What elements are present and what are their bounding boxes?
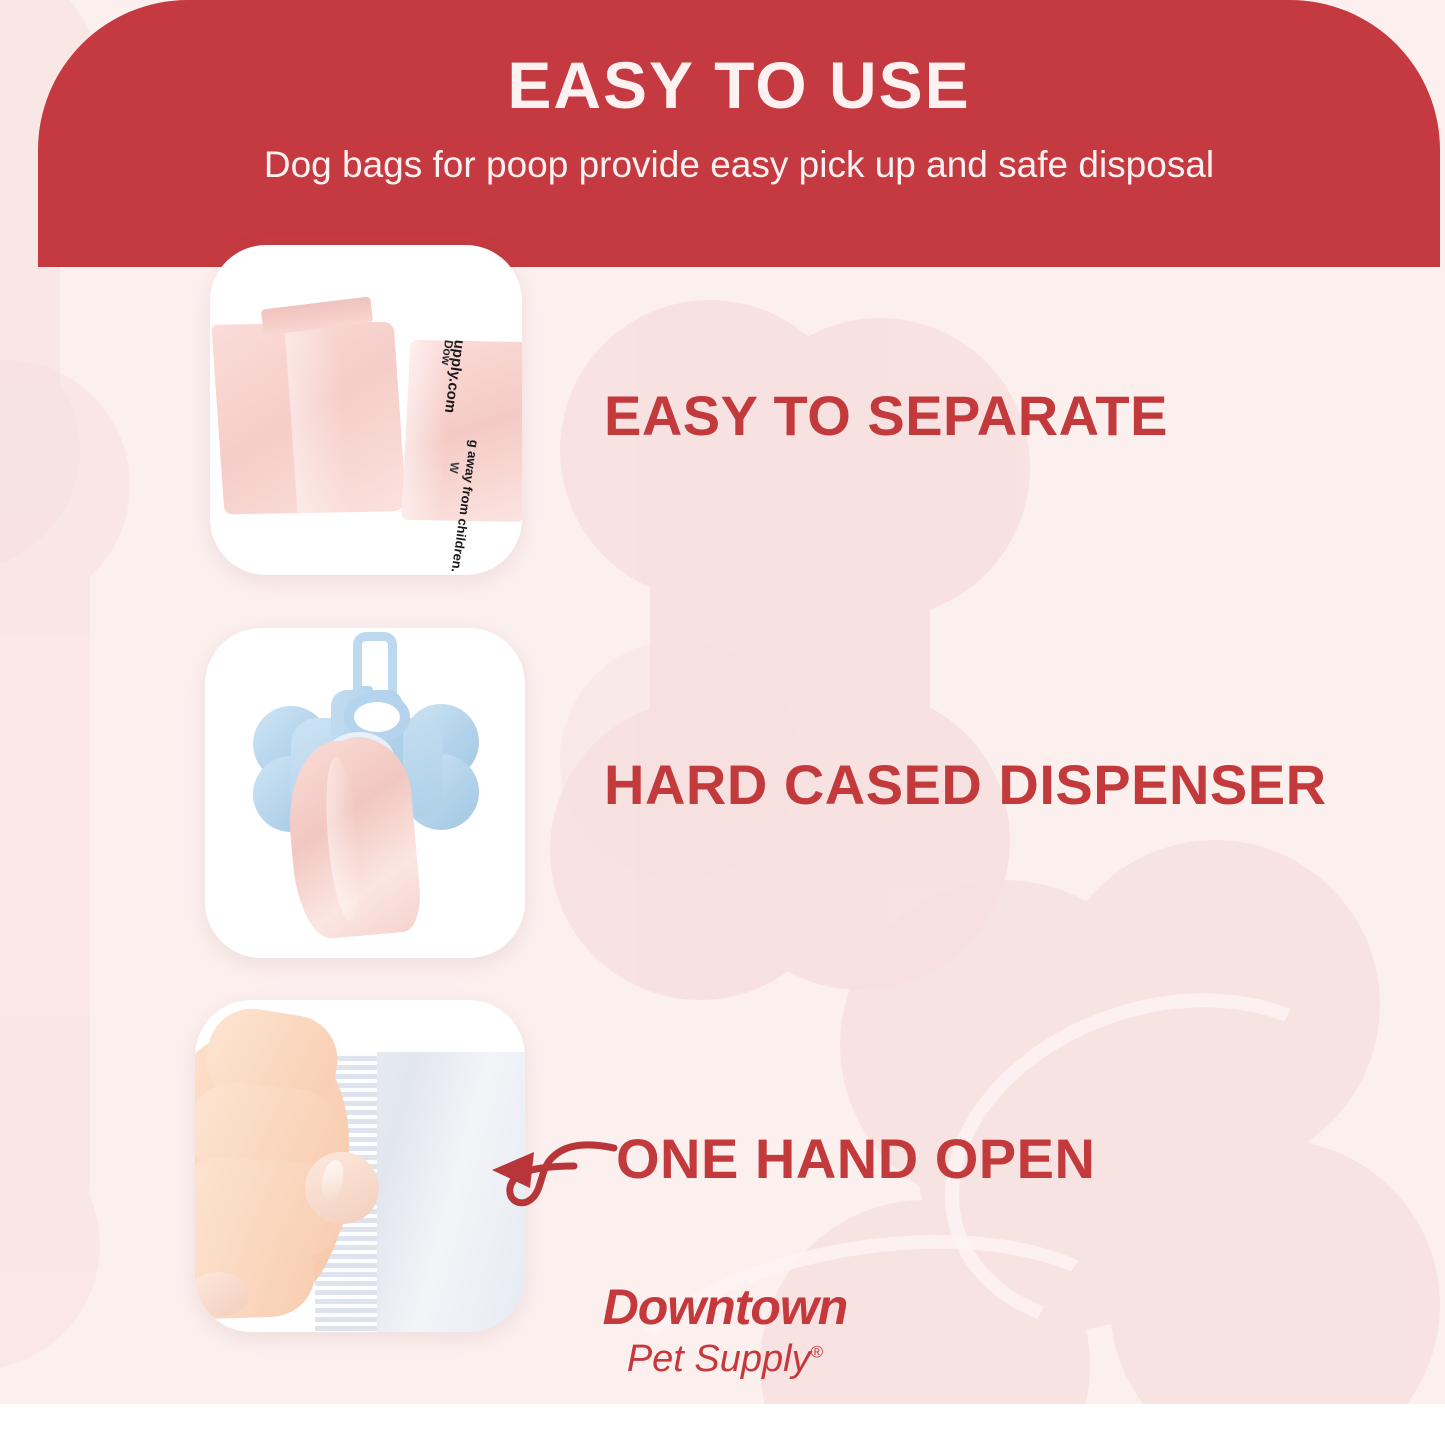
feature-image-easy-to-separate: upply.com Dow g away from children. W <box>210 245 522 575</box>
feature-image-one-hand-open <box>195 1000 525 1332</box>
page-title: EASY TO USE <box>38 52 1440 118</box>
brand-name-line2: Pet Supply® <box>560 1340 890 1378</box>
brand-name-line1: Downtown <box>560 1282 890 1332</box>
header-banner: EASY TO USE Dog bags for poop provide ea… <box>38 0 1440 267</box>
feature-label-one-hand-open: ONE HAND OPEN <box>616 1131 1095 1187</box>
page-subtitle: Dog bags for poop provide easy pick up a… <box>38 143 1440 187</box>
feature-label-hard-cased-dispenser: HARD CASED DISPENSER <box>604 757 1327 813</box>
pink-bag-left-icon <box>211 322 406 515</box>
dispensing-pink-bag-icon <box>283 735 424 941</box>
feature-image-hard-cased-dispenser <box>205 628 525 958</box>
decorative-bone-left-icon <box>0 360 220 1380</box>
infographic-stage: EASY TO USE Dog bags for poop provide ea… <box>0 0 1445 1445</box>
feature-label-easy-to-separate: EASY TO SEPARATE <box>604 388 1168 444</box>
brand-name-line2-text: Pet Supply <box>627 1338 811 1380</box>
curly-arrow-left-icon <box>486 1126 622 1224</box>
packaging-text-line4: W <box>447 461 462 474</box>
bottom-white-strip <box>0 1404 1445 1445</box>
brand-logo: Downtown Pet Supply® <box>560 1282 890 1392</box>
registered-trademark-icon: ® <box>811 1342 824 1361</box>
